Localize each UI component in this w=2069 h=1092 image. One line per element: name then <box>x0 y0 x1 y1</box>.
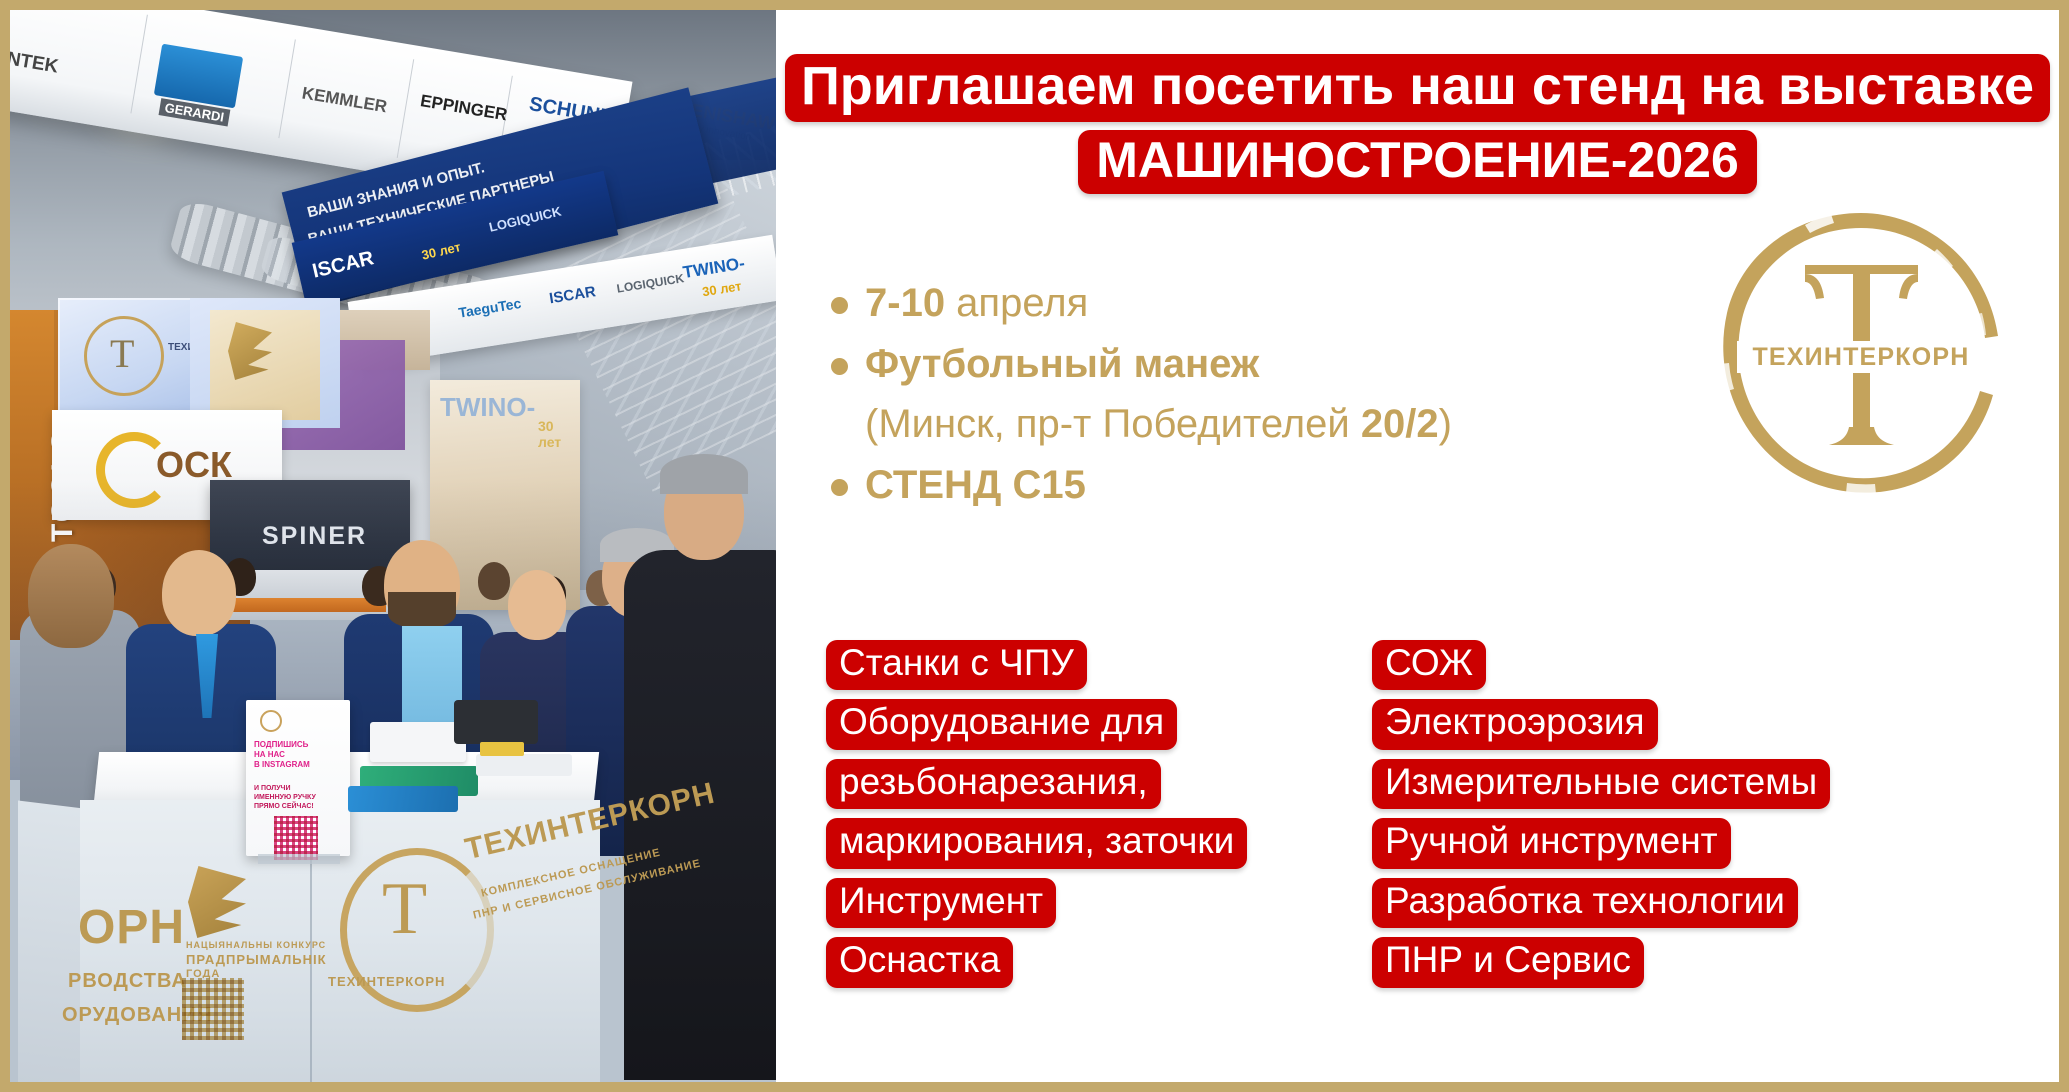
award-line-1: НАЦЫЯНАЛЬНЫ КОНКУРС <box>186 940 326 950</box>
bullet-dot-icon <box>831 358 848 375</box>
address-prefix: (Минск, пр-т Победителей <box>865 402 1361 446</box>
taegutec-logo: TaeguTec <box>457 295 522 321</box>
venue-address: (Минск, пр-т Победителей 20/2) <box>865 400 1591 448</box>
award-line-2: ПРАДПРЫМАЛЬНІК <box>186 952 327 967</box>
counter-tablet <box>454 700 538 744</box>
logiquick-logo: LOGIQUICK <box>488 204 563 235</box>
title-line-1: Приглашаем посетить наш стенд на выставк… <box>785 54 2050 122</box>
service-tag[interactable]: Станки с ЧПУ <box>826 640 1087 690</box>
event-details-list: 7-10 апреля Футбольный манеж (Минск, пр-… <box>831 280 1591 524</box>
person-head <box>478 562 510 600</box>
iscar-years-label: 30 лет <box>420 239 462 263</box>
counter-qr-code-icon <box>182 978 244 1040</box>
service-tag[interactable]: Электроэрозия <box>1372 699 1658 749</box>
grey-hair-icon <box>660 454 748 494</box>
venue-text: Футбольный манеж <box>865 341 1259 388</box>
counter-yellow-items <box>480 742 524 756</box>
address-number: 20/2 <box>1361 402 1439 446</box>
counter-brand-partial: ОРН <box>78 900 185 955</box>
dates-bold: 7-10 <box>865 281 945 325</box>
service-tag[interactable]: Измерительные системы <box>1372 759 1830 809</box>
sign-stand-base <box>258 854 340 864</box>
sign-line-2: И ПОЛУЧИ ИМЕННУЮ РУЧКУ ПРЯМО СЕЙЧАС! <box>254 784 316 811</box>
person-head <box>162 550 236 636</box>
service-tag[interactable]: маркирования, заточки <box>826 818 1247 868</box>
service-tag[interactable]: СОЖ <box>1372 640 1486 690</box>
counter-brand-text: ТЕХИНТЕРКОРН <box>328 974 445 989</box>
services-column-left: Станки с ЧПУ Оборудование для резьбонаре… <box>826 640 1346 997</box>
counter-left-text-1: РВОДСТВА <box>68 970 187 993</box>
logo-wordmark: ТЕХИНТЕРКОРН <box>1752 343 1969 371</box>
sign-line-1: ПОДПИШИСЬ НА НАС В INSTAGRAM <box>254 740 310 770</box>
twino-panel-years: 30 лет <box>538 418 580 450</box>
twino-years-label: 30 лет <box>701 278 742 299</box>
stand-text: СТЕНД С15 <box>865 462 1086 509</box>
sponsor-logo-eppinger: EPPINGER <box>419 91 509 125</box>
service-tag[interactable]: Инструмент <box>826 878 1056 928</box>
iscar-logo-2: ISCAR <box>548 283 597 307</box>
content-panel: Приглашаем посетить наш стенд на выставк… <box>776 10 2059 1082</box>
counter-logo-letter: Т <box>382 876 427 943</box>
service-tag[interactable]: Оборудование для <box>826 699 1177 749</box>
title-line-2: МАШИНОСТРОЕНИЕ-2026 <box>1078 130 1757 194</box>
award-wing-icon <box>228 322 272 380</box>
poster-root: INTEK GERARDI KEMMLER EPPINGER SCHUNK RE… <box>0 0 2069 1092</box>
address-suffix: ) <box>1439 402 1452 446</box>
gold-stand-panel <box>210 310 320 420</box>
counter-box <box>370 722 466 762</box>
title-line-2-wrap: МАШИНОСТРОЕНИЕ-2026 <box>776 130 2059 194</box>
service-tag[interactable]: резьбонарезания, <box>826 759 1161 809</box>
bullet-dot-icon <box>831 297 848 314</box>
techinterkorn-t-icon: Т <box>110 330 134 377</box>
iscar-logo: ISCAR <box>310 247 376 283</box>
stand-number: 15 <box>1041 463 1086 507</box>
dates-rest: апреля <box>945 281 1088 325</box>
sponsor-logo-kemmler: KEMMLER <box>300 83 388 117</box>
service-tag[interactable]: Разработка технологии <box>1372 878 1798 928</box>
counter-pen-tray <box>476 754 572 776</box>
exhibition-photo: INTEK GERARDI KEMMLER EPPINGER SCHUNK RE… <box>10 10 776 1082</box>
techinterkorn-logo: ТЕХИНТЕРКОРН <box>1701 195 2021 515</box>
services-column-right: СОЖ Электроэрозия Измерительные системы … <box>1372 640 1992 997</box>
person-head <box>508 570 566 640</box>
logiquick-logo-2: LOGIQUICK <box>616 271 685 295</box>
service-tag[interactable]: ПНР и Сервис <box>1372 937 1644 987</box>
dates-text: 7-10 апреля <box>865 280 1088 327</box>
title-line-1-wrap: Приглашаем посетить наш стенд на выставк… <box>776 54 2059 122</box>
service-tag[interactable]: Ручной инструмент <box>1372 818 1731 868</box>
sign-ring-icon <box>260 710 282 732</box>
service-tag[interactable]: Оснастка <box>826 937 1013 987</box>
sponsor-logo-intek: INTEK <box>10 47 60 78</box>
bullet-dot-icon <box>831 479 848 496</box>
title-block: Приглашаем посетить наш стенд на выставк… <box>776 54 2059 194</box>
person-head <box>28 544 114 648</box>
list-item-dates: 7-10 апреля <box>831 280 1591 327</box>
beard-icon <box>388 592 456 628</box>
list-item-venue: Футбольный манеж <box>831 341 1591 388</box>
instagram-table-sign: ПОДПИШИСЬ НА НАС В INSTAGRAM И ПОЛУЧИ ИМ… <box>246 700 350 856</box>
stand-prefix: СТЕНД С <box>865 463 1041 507</box>
counter-brochures-blue <box>348 786 458 812</box>
twino-panel-logo: TWINO- <box>440 392 535 423</box>
list-item-stand: СТЕНД С15 <box>831 462 1591 509</box>
